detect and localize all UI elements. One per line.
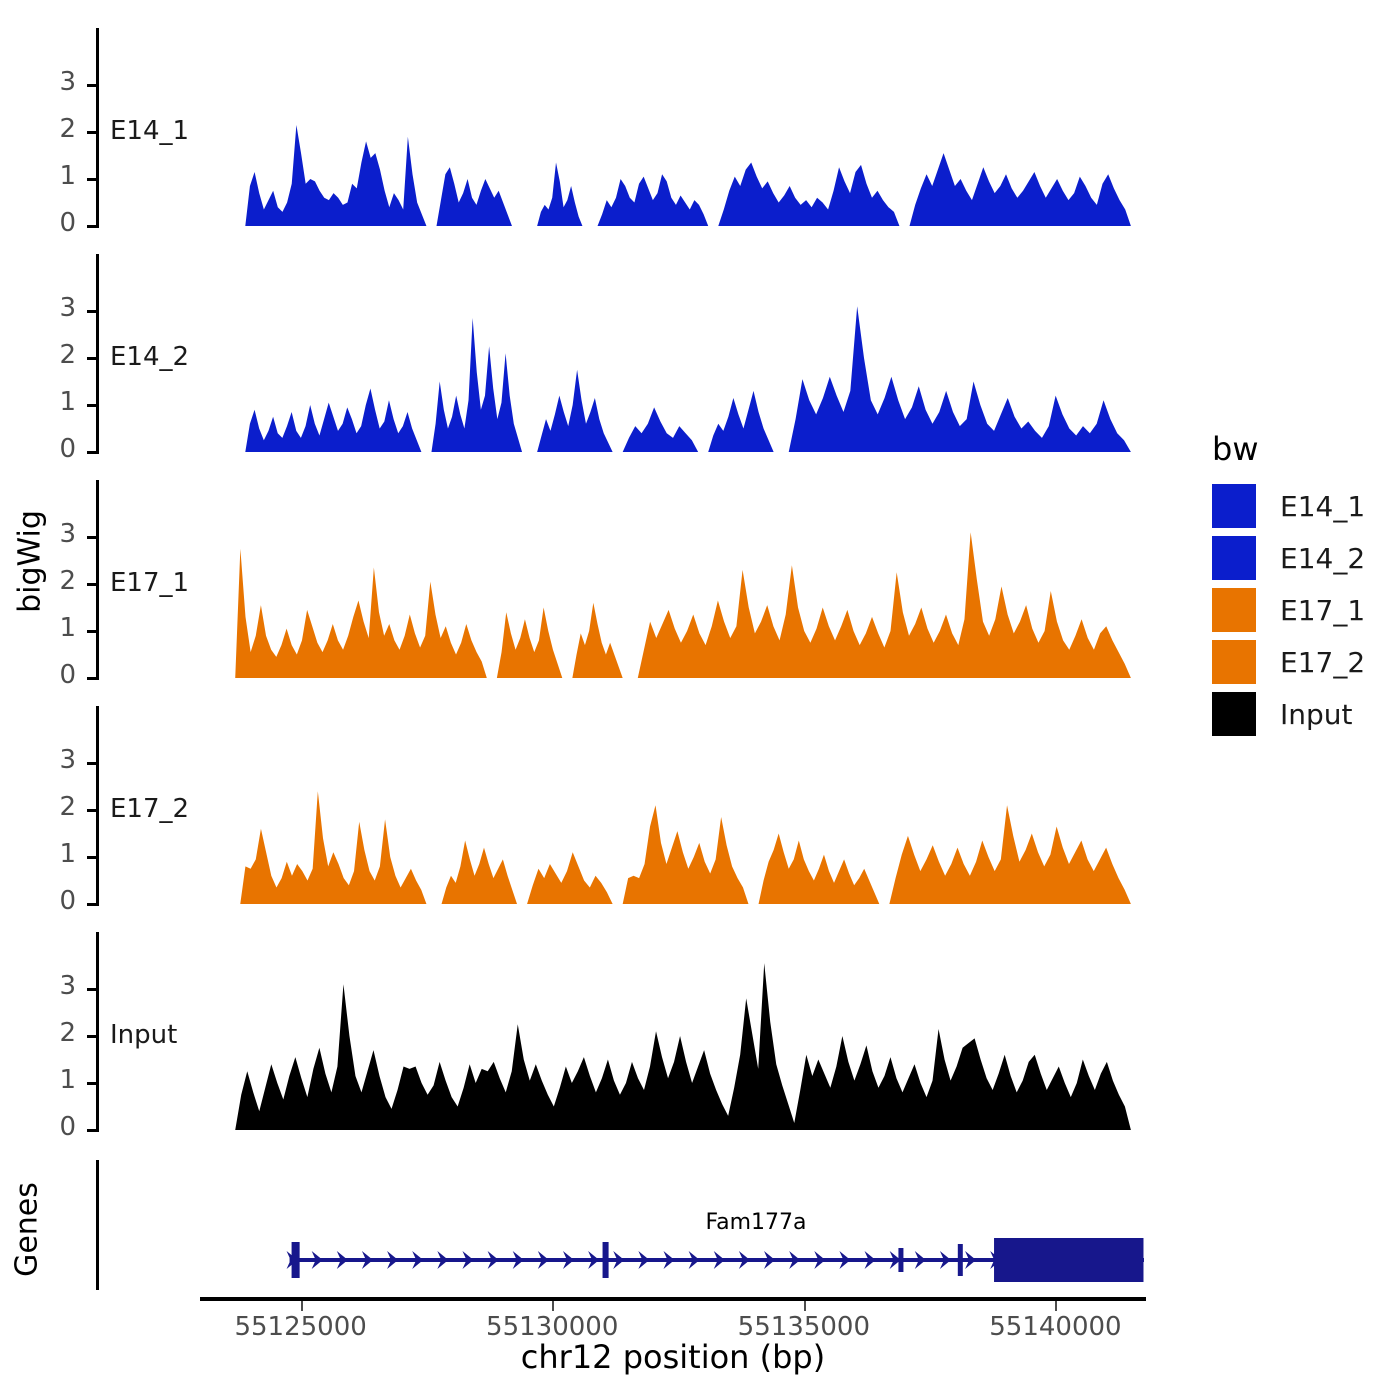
track-panel-e14_2: 0123E14_2 (96, 254, 1146, 454)
signal-trace-e14_1 (96, 28, 1146, 228)
signal-segment (537, 370, 612, 452)
signal-segment (910, 153, 1131, 226)
y-tick-label-e14_1-1: 1 (18, 161, 76, 191)
y-tick-e14_1-2 (87, 131, 96, 134)
y-tick-input-3 (87, 988, 96, 991)
gene-exon-block[interactable] (292, 1242, 300, 1278)
signal-segment (431, 318, 522, 452)
legend-swatch-e17_2 (1212, 640, 1256, 684)
legend-title-label: bw (1212, 430, 1258, 468)
signal-segment (527, 852, 613, 904)
gene-exon-block[interactable] (994, 1238, 1143, 1282)
track-panel-input: 0123Input (96, 932, 1146, 1132)
legend-swatch-e17_1 (1212, 588, 1256, 632)
y-tick-label-e17_1-3: 3 (18, 519, 76, 549)
y-tick-e17_2-1 (87, 856, 96, 859)
y-tick-label-e17_1-1: 1 (18, 613, 76, 643)
track-panel-e14_1: 0123E14_1 (96, 28, 1146, 228)
y-tick-label-e17_2-2: 2 (18, 792, 76, 822)
signal-segment (245, 389, 421, 452)
x-axis-line (200, 1297, 1146, 1301)
y-tick-label-e14_2-3: 3 (18, 293, 76, 323)
legend-label-e14_2: E14_2 (1280, 542, 1365, 575)
signal-segment (623, 407, 698, 452)
gene-exon-block[interactable] (898, 1248, 903, 1272)
x-tick-55130000 (552, 1301, 554, 1311)
y-axis-title-genes: Genes (10, 1145, 45, 1315)
legend-item-e14_1[interactable]: E14_1 (1212, 484, 1365, 528)
legend-item-e17_1[interactable]: E17_1 (1212, 588, 1365, 632)
signal-segment (759, 834, 880, 905)
signal-segment (497, 608, 562, 679)
y-tick-e14_2-3 (87, 310, 96, 313)
signal-trace-e17_2 (96, 706, 1146, 906)
y-tick-input-1 (87, 1082, 96, 1085)
signal-trace-input (96, 932, 1146, 1132)
y-tick-label-e14_2-1: 1 (18, 387, 76, 417)
legend-label-e14_1: E14_1 (1280, 490, 1365, 523)
y-tick-label-e14_1-3: 3 (18, 67, 76, 97)
legend-label-input: Input (1280, 698, 1353, 731)
signal-segment (718, 163, 899, 226)
x-tick-55135000 (804, 1301, 806, 1311)
gene-model[interactable] (96, 1160, 1146, 1290)
y-tick-label-input-0: 0 (18, 1112, 76, 1142)
y-tick-label-e14_1-0: 0 (18, 208, 76, 238)
y-tick-e17_1-3 (87, 536, 96, 539)
y-tick-e17_1-1 (87, 630, 96, 633)
track-panel-e17_1: 0123E17_1 (96, 480, 1146, 680)
legend-swatch-e14_2 (1212, 536, 1256, 580)
y-tick-e14_2-0 (87, 451, 96, 454)
y-tick-e17_1-0 (87, 677, 96, 680)
y-tick-label-e14_2-0: 0 (18, 434, 76, 464)
genes-panel: Fam177a (96, 1160, 1146, 1290)
legend-item-e14_2[interactable]: E14_2 (1212, 536, 1365, 580)
signal-segment (889, 805, 1131, 904)
y-tick-label-e14_1-2: 2 (18, 114, 76, 144)
legend-title: bw (1212, 430, 1258, 468)
track-panel-e17_2: 0123E17_2 (96, 706, 1146, 906)
y-tick-label-input-1: 1 (18, 1065, 76, 1095)
genome-browser-figure: bigWig Genes 0123E14_10123E14_20123E17_1… (0, 0, 1400, 1400)
signal-segment (437, 167, 512, 226)
y-tick-e14_2-2 (87, 357, 96, 360)
y-tick-label-e17_2-1: 1 (18, 839, 76, 869)
y-tick-input-2 (87, 1035, 96, 1038)
signal-segment (442, 841, 517, 904)
x-axis-title: chr12 position (bp) (373, 1338, 973, 1376)
signal-trace-e14_2 (96, 254, 1146, 454)
signal-segment (598, 174, 709, 226)
x-tick-55140000 (1055, 1301, 1057, 1311)
gene-exon-block[interactable] (603, 1242, 609, 1278)
signal-segment (235, 549, 487, 678)
y-tick-e17_2-3 (87, 762, 96, 765)
signal-segment (537, 163, 582, 226)
y-tick-e17_2-2 (87, 809, 96, 812)
y-tick-label-e17_1-2: 2 (18, 566, 76, 596)
signal-segment (789, 306, 1131, 452)
legend-swatch-e14_1 (1212, 484, 1256, 528)
y-tick-label-e14_2-2: 2 (18, 340, 76, 370)
y-tick-label-e17_2-3: 3 (18, 745, 76, 775)
y-tick-label-input-2: 2 (18, 1018, 76, 1048)
signal-segment (623, 805, 749, 904)
x-tick-55125000 (301, 1301, 303, 1311)
signal-segment (245, 125, 426, 226)
y-tick-e14_1-3 (87, 84, 96, 87)
x-tick-label-55140000: 55140000 (945, 1312, 1165, 1342)
legend-item-input[interactable]: Input (1212, 692, 1353, 736)
y-axis-title-genes-label: Genes (10, 1182, 45, 1277)
legend-item-e17_2[interactable]: E17_2 (1212, 640, 1365, 684)
legend: bw E14_1E14_2E17_1E17_2Input (1212, 430, 1400, 720)
y-tick-e17_1-2 (87, 583, 96, 586)
y-tick-label-input-3: 3 (18, 971, 76, 1001)
signal-segment (240, 791, 426, 904)
y-tick-e14_2-1 (87, 404, 96, 407)
x-axis-title-label: chr12 position (bp) (521, 1338, 825, 1376)
signal-segment (708, 391, 773, 452)
legend-label-e17_2: E17_2 (1280, 646, 1365, 679)
gene-exon-block[interactable] (958, 1244, 963, 1276)
y-tick-e14_1-0 (87, 225, 96, 228)
signal-segment (638, 532, 1131, 678)
y-tick-label-e17_2-0: 0 (18, 886, 76, 916)
y-tick-label-e17_1-0: 0 (18, 660, 76, 690)
signal-segment (235, 963, 1131, 1130)
y-tick-input-0 (87, 1129, 96, 1132)
y-tick-e14_1-1 (87, 178, 96, 181)
legend-label-e17_1: E17_1 (1280, 594, 1365, 627)
signal-trace-e17_1 (96, 480, 1146, 680)
y-tick-e17_2-0 (87, 903, 96, 906)
signal-segment (572, 603, 622, 678)
legend-swatch-input (1212, 692, 1256, 736)
